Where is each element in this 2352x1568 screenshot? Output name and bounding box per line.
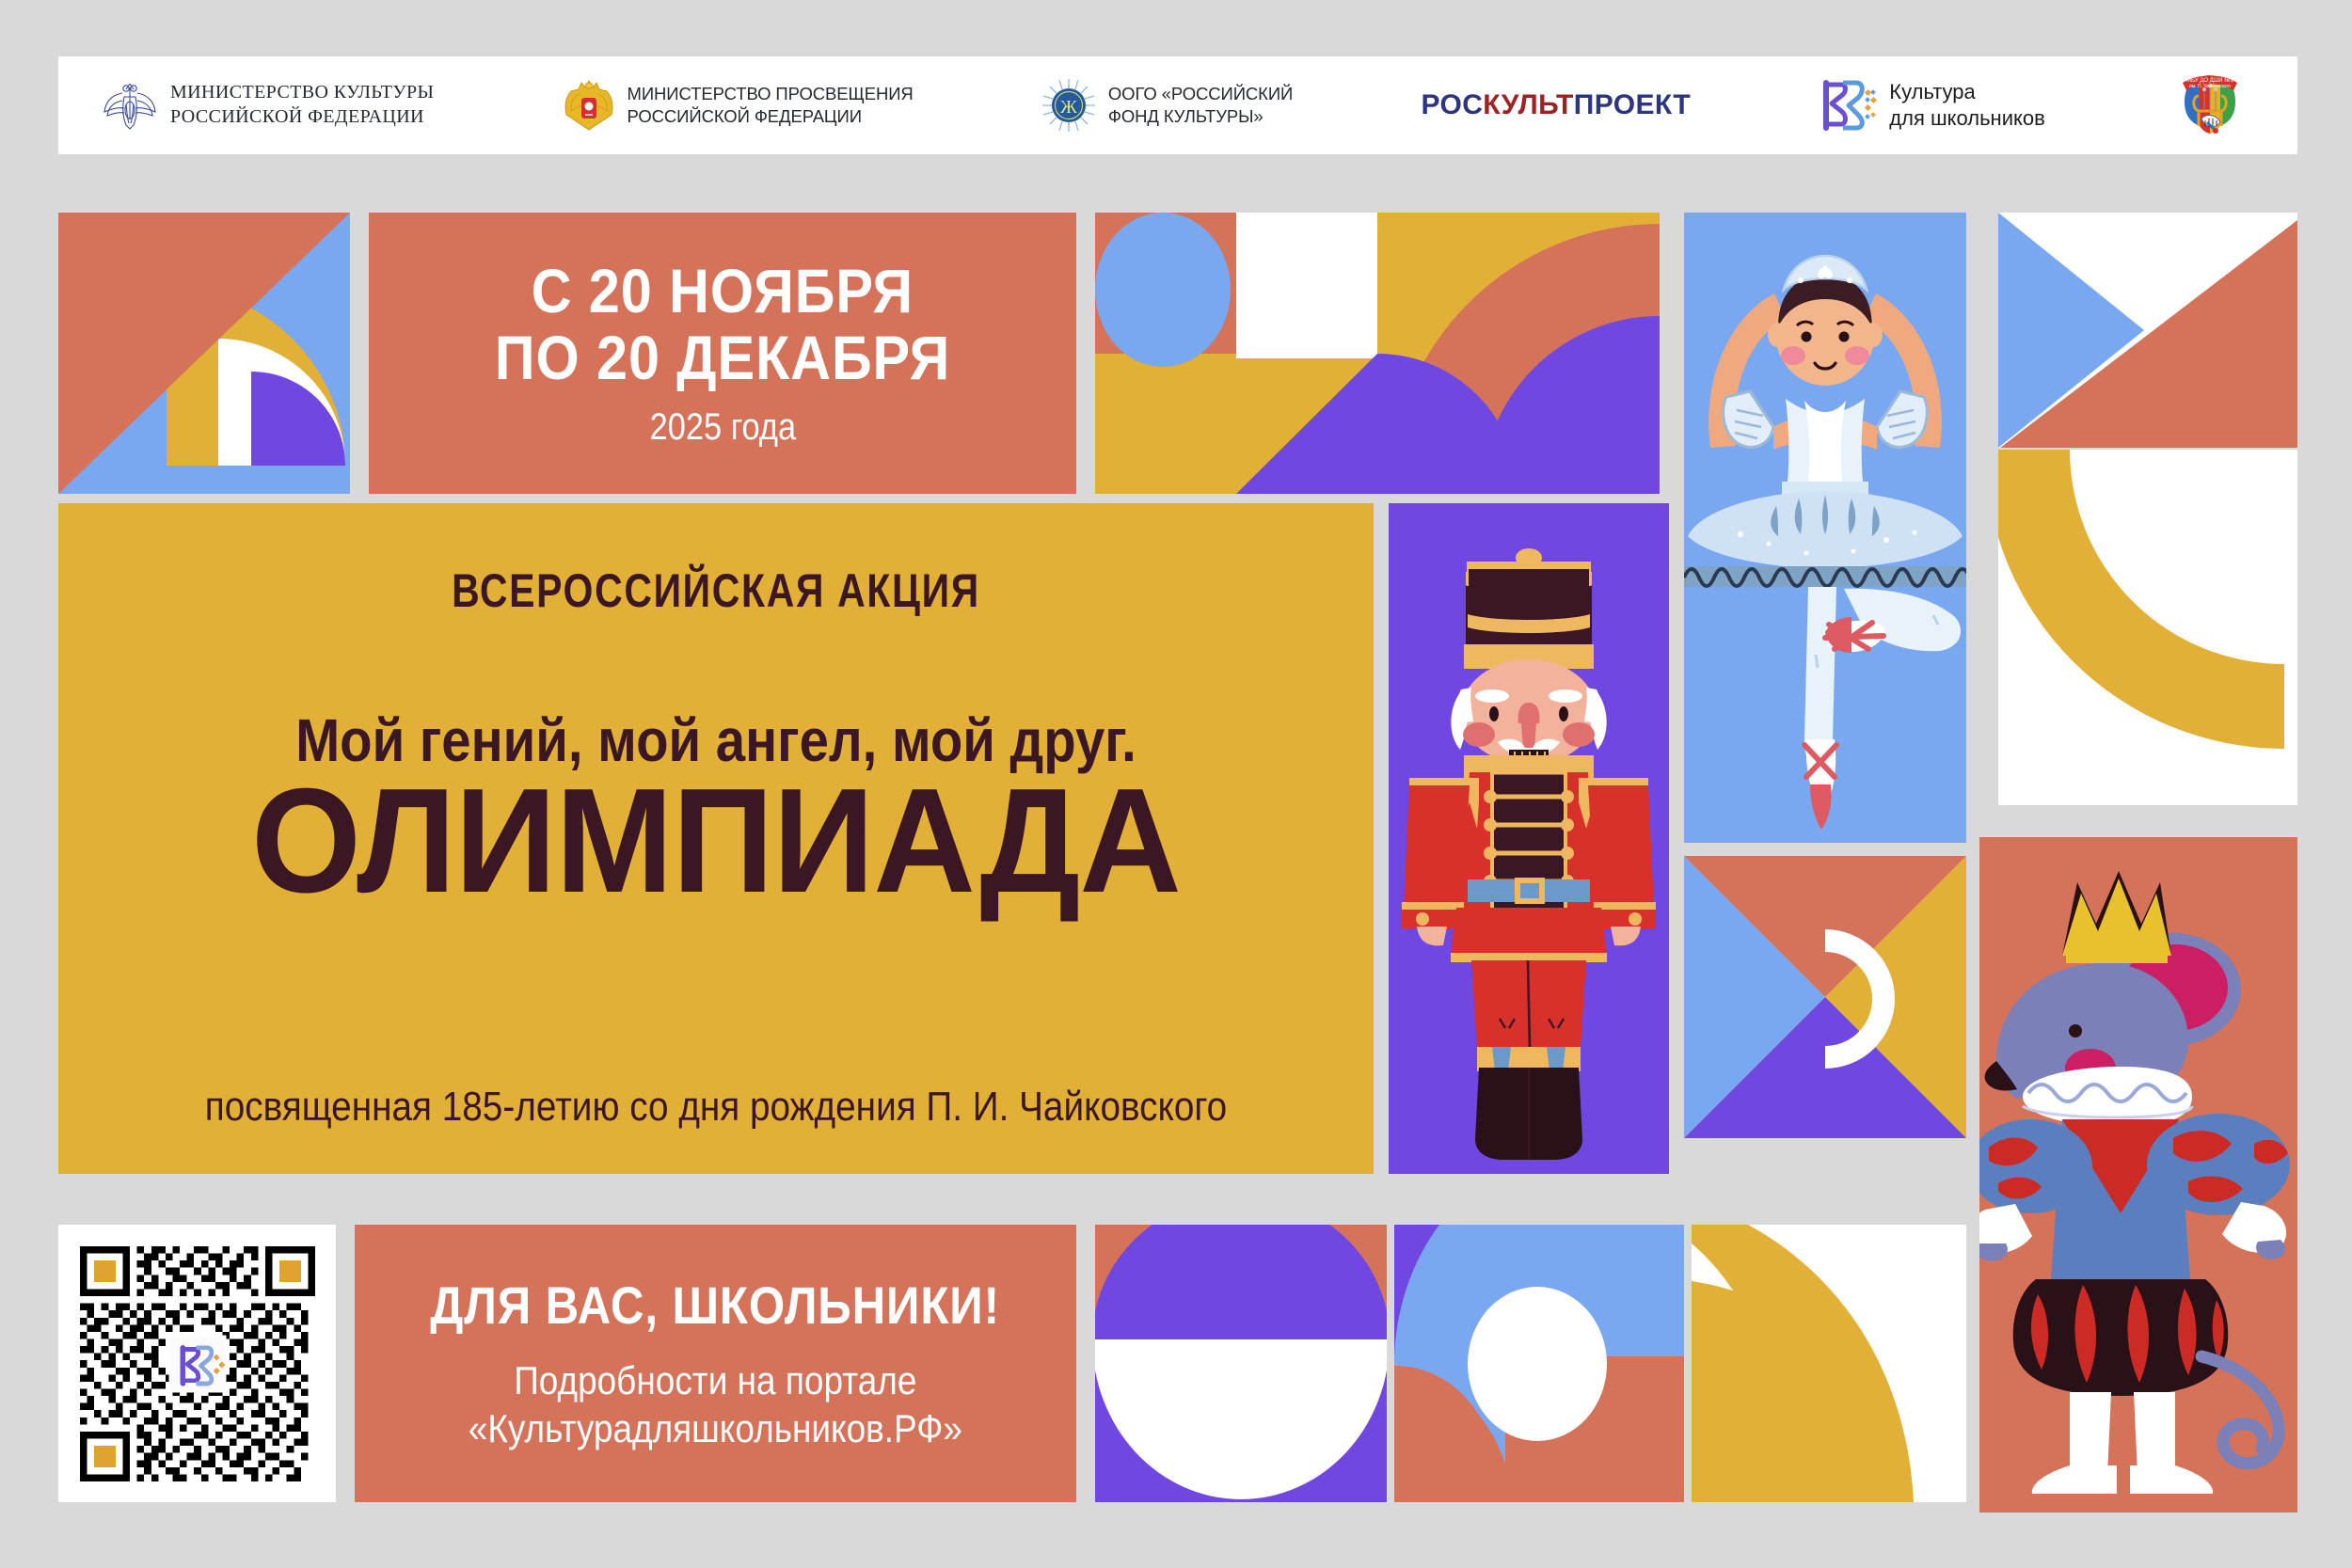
ballerina-graphic bbox=[1684, 213, 1966, 843]
wordmark-part-2: КУЛЬТ bbox=[1483, 89, 1573, 120]
date-year: 2025 года bbox=[649, 406, 795, 449]
double-headed-eagle-lyre-emblem-icon bbox=[102, 76, 158, 135]
logo-label: ООГО «РОССИЙСКИЙ ФОНД КУЛЬТУРЫ» bbox=[1108, 83, 1293, 127]
date-line-1: С 20 НОЯБРЯ bbox=[532, 258, 914, 325]
logo-label: МИНИСТЕРСТВО ПРОСВЕЩЕНИЯ РОССИЙСКОЙ ФЕДЕ… bbox=[628, 83, 914, 127]
logo-ministry-of-education: МИНИСТЕРСТВО ПРОСВЕЩЕНИЯ РОССИЙСКОЙ ФЕДЕ… bbox=[563, 77, 914, 134]
illustration-nutcracker bbox=[1389, 503, 1669, 1174]
date-panel: С 20 НОЯБРЯ ПО 20 ДЕКАБРЯ 2025 года bbox=[369, 213, 1076, 494]
logo-label: Культура для школьников bbox=[1889, 79, 2045, 132]
kicker-text: ВСЕРОССИЙСКАЯ АКЦИЯ bbox=[177, 563, 1255, 618]
tile-blue-salmon-ellipse-graphic bbox=[1394, 1225, 1684, 1502]
cta-line-2[interactable]: «Культурадляшкольников.РФ» bbox=[469, 1404, 962, 1452]
wordmark-part-1: РОС bbox=[1421, 89, 1483, 120]
illustration-ballerina bbox=[1684, 213, 1966, 843]
sponsor-logo-bar: МИНИСТЕРСТВО КУЛЬТУРЫ РОССИЙСКОЙ ФЕДЕРАЦ… bbox=[58, 56, 2297, 154]
svg-text:им. П. Чайковского: им. П. Чайковского bbox=[2189, 83, 2231, 89]
tile-yellow-ring-graphic bbox=[1998, 450, 2297, 805]
date-line-2: ПО 20 ДЕКАБРЯ bbox=[495, 325, 950, 391]
kds-bracket-logo-icon bbox=[1819, 77, 1877, 134]
cta-line-1: Подробности на портале bbox=[514, 1356, 916, 1404]
starburst-monogram-emblem-icon: Ж bbox=[1041, 78, 1096, 133]
russian-coat-of-arms-icon bbox=[563, 77, 615, 134]
cta-panel: ДЛЯ ВАС, ШКОЛЬНИКИ! Подробности на порта… bbox=[355, 1225, 1076, 1502]
tile-arc-rainbow-graphic bbox=[58, 213, 350, 494]
tile-arc-rainbow bbox=[58, 213, 350, 494]
logo-ministry-of-culture: МИНИСТЕРСТВО КУЛЬТУРЫ РОССИЙСКОЙ ФЕДЕРАЦ… bbox=[102, 76, 434, 135]
illustration-mouse-king bbox=[1979, 837, 2297, 1513]
tile-blue-salmon-triangles-graphic bbox=[1998, 213, 2297, 448]
logo-roskultproekt: РОСКУЛЬТПРОЕКТ bbox=[1421, 89, 1691, 121]
tile-yellow-ring bbox=[1998, 450, 2297, 805]
tile-blue-salmon-ellipse bbox=[1394, 1225, 1684, 1502]
svg-text:МБУ ДО ДШИ №1: МБУ ДО ДШИ №1 bbox=[2186, 77, 2234, 84]
svg-text:Ж: Ж bbox=[1060, 97, 1077, 118]
logo-russian-culture-fund: Ж ООГО «РОССИЙСКИЙ ФОНД КУЛЬТУРЫ» bbox=[1041, 78, 1293, 133]
qr-code-icon[interactable] bbox=[80, 1246, 315, 1481]
qr-code-panel[interactable] bbox=[58, 1225, 336, 1502]
lyre-ribbon-emblem-icon: МБУ ДО ДШИ №1 им. П. Чайковского bbox=[2173, 68, 2247, 143]
logo-school-of-arts: МБУ ДО ДШИ №1 им. П. Чайковского bbox=[2173, 68, 2247, 143]
poster-canvas: МИНИСТЕРСТВО КУЛЬТУРЫ РОССИЙСКОЙ ФЕДЕРАЦ… bbox=[0, 0, 2352, 1568]
main-content-panel: ВСЕРОССИЙСКАЯ АКЦИЯ Мой гений, мой ангел… bbox=[58, 503, 1374, 1174]
tile-four-triangles-ring bbox=[1684, 856, 1966, 1138]
dedication-text: посвященная 185-летию со дня рождения П.… bbox=[137, 1084, 1295, 1131]
tile-circle-square-quarter bbox=[1095, 213, 1660, 494]
nutcracker-graphic bbox=[1389, 503, 1669, 1174]
wordmark-part-3: ПРОЕКТ bbox=[1574, 89, 1691, 120]
roskultproekt-wordmark: РОСКУЛЬТПРОЕКТ bbox=[1421, 89, 1691, 121]
logo-culture-for-schoolchildren: Культура для школьников bbox=[1819, 77, 2045, 134]
mouse-king-graphic bbox=[1979, 837, 2297, 1513]
tile-yellow-leaf-graphic bbox=[1692, 1225, 1966, 1502]
logo-label: МИНИСТЕРСТВО КУЛЬТУРЫ РОССИЙСКОЙ ФЕДЕРАЦ… bbox=[170, 81, 434, 129]
tile-blue-salmon-triangles bbox=[1998, 213, 2297, 448]
tile-four-triangles-ring-graphic bbox=[1684, 856, 1966, 1138]
tile-circle-square-quarter-graphic bbox=[1095, 213, 1660, 494]
tile-yellow-leaf bbox=[1692, 1225, 1966, 1502]
cta-heading: ДЛЯ ВАС, ШКОЛЬНИКИ! bbox=[431, 1275, 1001, 1336]
tile-purple-ellipse bbox=[1095, 1225, 1387, 1502]
page-title: ОЛИМПИАДА bbox=[91, 767, 1341, 915]
tile-purple-ellipse-graphic bbox=[1095, 1225, 1387, 1502]
